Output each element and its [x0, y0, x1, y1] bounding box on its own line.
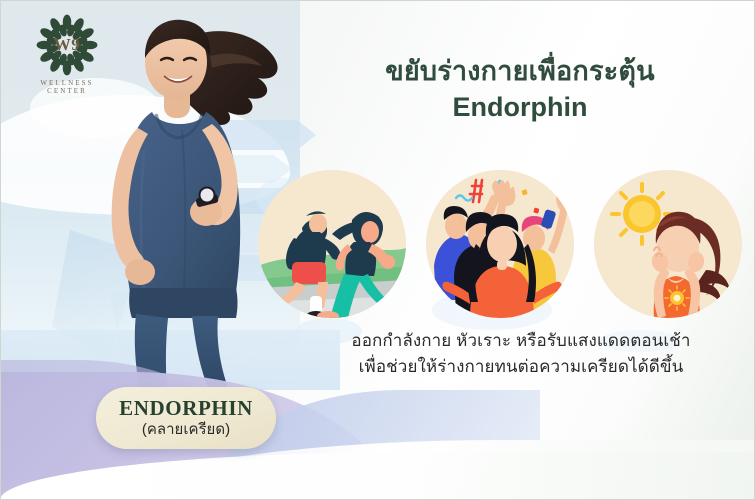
body-line-2: เพื่อช่วยให้ร่างกายทนต่อความเครียดได้ดีข… — [296, 354, 746, 380]
slide-canvas: ขยับร่างกายเพื่อกระตุ้น Endorphin — [0, 0, 755, 500]
body-copy: ออกกำลังกาย หัวเราะ หรือรับแสงแดดตอนเช้า… — [296, 328, 746, 379]
badge-english-label: ENDORPHIN — [119, 397, 253, 419]
title-thai-line: ขยับร่างกายเพื่อกระตุ้น — [300, 56, 740, 88]
endorphin-badge: ENDORPHIN (คลายเครียด) — [96, 387, 276, 449]
logo-caption: WELLNESS CENTER — [19, 79, 115, 95]
page-title: ขยับร่างกายเพื่อกระตุ้น Endorphin — [300, 56, 740, 125]
illustration-circle-group — [258, 168, 742, 320]
badge-thai-label: (คลายเครียด) — [142, 421, 230, 439]
brand-logo[interactable]: W9 WELLNESS CENTER — [19, 14, 115, 88]
leaf-wreath-icon: W9 — [36, 14, 98, 76]
circle-running — [258, 170, 406, 318]
body-line-1: ออกกำลังกาย หัวเราะ หรือรับแสงแดดตอนเช้า — [296, 328, 746, 354]
logo-monogram: W9 — [36, 35, 98, 55]
circle-sunlight — [594, 170, 742, 318]
title-english-line: Endorphin — [300, 90, 740, 125]
circle-laughing — [426, 170, 574, 318]
